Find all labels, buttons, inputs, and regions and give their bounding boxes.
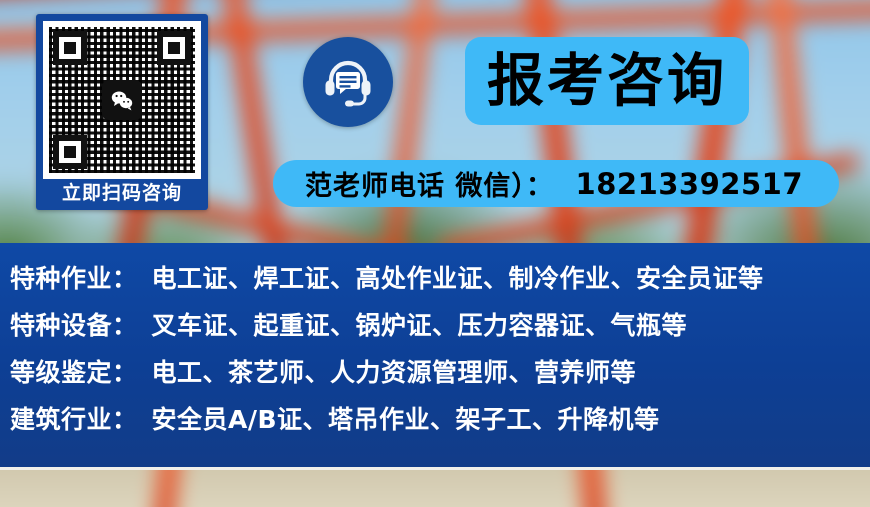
headset-support-icon	[303, 37, 393, 127]
contact-number[interactable]: 18213392517	[576, 167, 803, 201]
category-row-grade-assessment: 等级鉴定： 电工、茶艺师、人力资源管理师、营养师等	[0, 353, 870, 400]
category-value: 安全员A/B证、塔吊作业、架子工、升降机等	[152, 400, 660, 436]
qr-code-card[interactable]: 立即扫码咨询	[36, 14, 208, 210]
qr-finder-bottom-left	[53, 135, 87, 169]
category-label: 等级鉴定：	[10, 353, 138, 389]
category-value: 电工证、焊工证、高处作业证、制冷作业、安全员证等	[152, 259, 764, 295]
page-title: 报考咨询	[487, 53, 727, 110]
qr-code-image[interactable]	[49, 27, 195, 173]
category-row-special-operations: 特种作业： 电工证、焊工证、高处作业证、制冷作业、安全员证等	[0, 259, 870, 306]
wechat-icon	[102, 80, 142, 120]
contact-pill[interactable]: 范老师电话 微信）： 18213392517	[273, 160, 839, 207]
category-row-construction-industry: 建筑行业： 安全员A/B证、塔吊作业、架子工、升降机等	[0, 400, 870, 447]
category-label: 特种作业：	[10, 259, 138, 295]
promotional-poster: 立即扫码咨询 报考咨询 范老师电话 微信）： 18213392517 特种作业：…	[0, 0, 870, 507]
category-label: 建筑行业：	[10, 400, 138, 436]
category-value: 叉车证、起重证、锅炉证、压力容器证、气瓶等	[152, 306, 688, 342]
qr-finder-top-left	[53, 31, 87, 65]
qr-caption: 立即扫码咨询	[43, 179, 201, 210]
course-categories-panel: 特种作业： 电工证、焊工证、高处作业证、制冷作业、安全员证等 特种设备： 叉车证…	[0, 243, 870, 467]
contact-label: 范老师电话 微信）：	[305, 164, 554, 203]
qr-finder-top-right	[157, 31, 191, 65]
qr-code-frame	[43, 21, 201, 179]
category-value: 电工、茶艺师、人力资源管理师、营养师等	[152, 353, 637, 389]
title-badge: 报考咨询	[465, 37, 749, 125]
category-row-special-equipment: 特种设备： 叉车证、起重证、锅炉证、压力容器证、气瓶等	[0, 306, 870, 353]
category-label: 特种设备：	[10, 306, 138, 342]
panel-bottom-edge	[0, 467, 870, 470]
